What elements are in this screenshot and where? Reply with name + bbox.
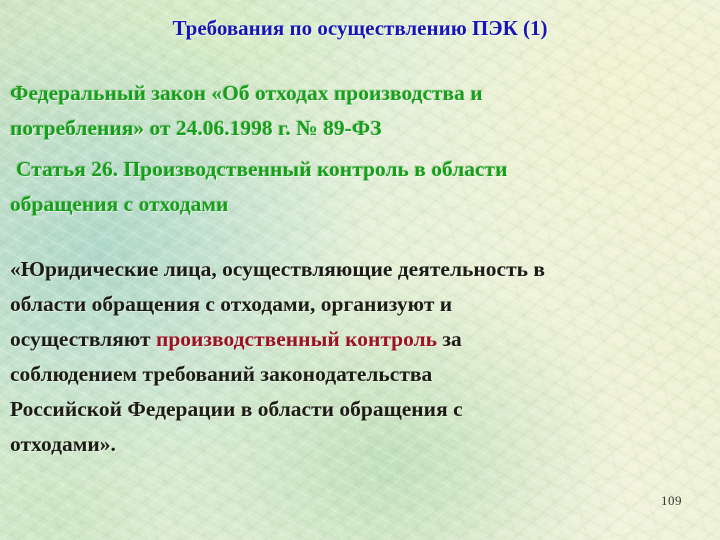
quote-text-run: Российской Федерации в области обращения…: [10, 397, 463, 421]
quote-text-run: соблюдением требований законодательства: [10, 362, 432, 386]
quote-line: осуществляют производственный контроль з…: [10, 322, 710, 357]
article-heading-line-1: Статья 26. Производственный контроль в о…: [10, 152, 700, 187]
highlighted-term: производственный контроль: [156, 327, 437, 351]
article-heading-line-2: обращения с отходами: [10, 187, 700, 222]
law-reference-block: Федеральный закон «Об отходах производст…: [10, 76, 700, 146]
slide-title: Требования по осуществлению ПЭК (1): [0, 16, 720, 41]
quote-text-run: отходами».: [10, 432, 116, 456]
quote-line: «Юридические лица, осуществляющие деятел…: [10, 252, 710, 287]
article-heading-block: Статья 26. Производственный контроль в о…: [10, 152, 700, 222]
quote-text-run: осуществляют: [10, 327, 156, 351]
page-number: 109: [661, 493, 682, 509]
quote-text-run: «Юридические лица, осуществляющие деятел…: [10, 257, 545, 281]
quote-line: соблюдением требований законодательства: [10, 357, 710, 392]
quote-text-run: за: [437, 327, 462, 351]
presentation-slide: Требования по осуществлению ПЭК (1) Феде…: [0, 0, 720, 540]
quote-text-run: области обращения с отходами, организуют…: [10, 292, 452, 316]
law-reference-line-1: Федеральный закон «Об отходах производст…: [10, 76, 700, 111]
quote-line: области обращения с отходами, организуют…: [10, 287, 710, 322]
quote-line: Российской Федерации в области обращения…: [10, 392, 710, 427]
quoted-article-text: «Юридические лица, осуществляющие деятел…: [10, 252, 710, 462]
slide-content: Требования по осуществлению ПЭК (1) Феде…: [0, 0, 720, 540]
law-reference-line-2: потребления» от 24.06.1998 г. № 89-ФЗ: [10, 111, 700, 146]
quote-line: отходами».: [10, 427, 710, 462]
